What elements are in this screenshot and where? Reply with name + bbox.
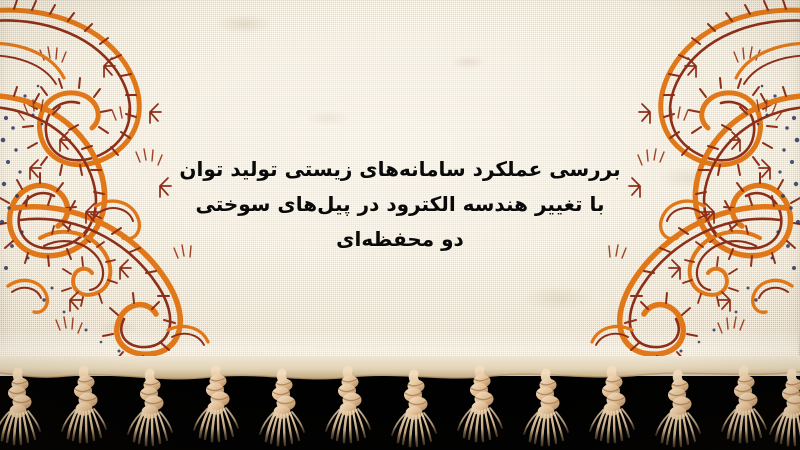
title-line-1: بررسی عملکرد سامانه‌های زیستی تولید توان [0,152,800,187]
page-title: بررسی عملکرد سامانه‌های زیستی تولید توان… [0,152,800,257]
title-line-2: با تغییر هندسه الکترود در پیل‌های سوختی [0,187,800,222]
title-line-3: دو محفظه‌ای [0,222,800,257]
title-slide: بررسی عملکرد سامانه‌های زیستی تولید توان… [0,0,800,450]
cloth-hem-highlight [0,328,798,376]
